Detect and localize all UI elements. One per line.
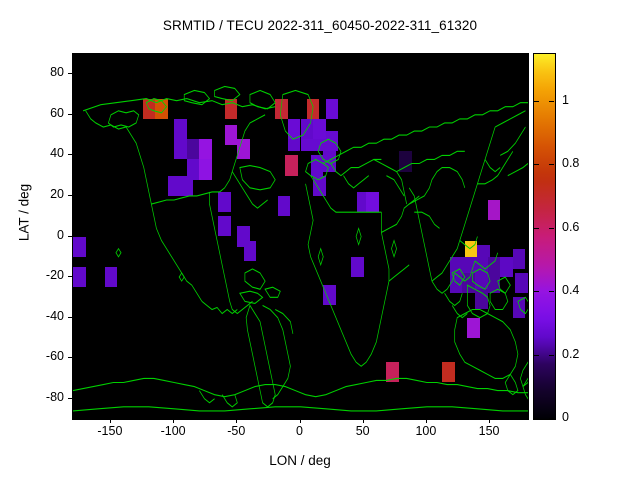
x-tick-label: 0 bbox=[270, 424, 330, 438]
colorbar-tick-mark bbox=[549, 355, 554, 356]
x-tick-label: -50 bbox=[206, 424, 266, 438]
x-tick-mark bbox=[363, 419, 364, 423]
y-tick-mark bbox=[68, 317, 72, 318]
y-tick-mark bbox=[68, 114, 72, 115]
y-tick-label: 40 bbox=[0, 146, 64, 160]
colorbar-tick-label: 0.2 bbox=[562, 347, 612, 361]
y-tick-label: 80 bbox=[0, 65, 64, 79]
colorbar-tick-mark bbox=[534, 355, 539, 356]
figure-canvas: SRMTID / TECU 2022-311_60450-2022-311_61… bbox=[0, 0, 640, 480]
x-tick-label: 50 bbox=[333, 424, 393, 438]
colorbar bbox=[533, 53, 556, 420]
x-tick-mark bbox=[489, 419, 490, 423]
y-tick-label: -80 bbox=[0, 390, 64, 404]
colorbar-tick-mark bbox=[549, 101, 554, 102]
y-tick-label: -20 bbox=[0, 268, 64, 282]
x-tick-mark bbox=[173, 419, 174, 423]
colorbar-gradient bbox=[534, 54, 555, 419]
y-tick-mark bbox=[68, 195, 72, 196]
colorbar-tick-label: 1 bbox=[562, 93, 612, 107]
x-tick-mark bbox=[236, 419, 237, 423]
coastline-layer bbox=[73, 54, 528, 419]
x-tick-label: 150 bbox=[459, 424, 519, 438]
x-axis-label: LON / deg bbox=[0, 453, 600, 468]
colorbar-tick-mark bbox=[549, 418, 554, 419]
y-tick-mark bbox=[68, 398, 72, 399]
y-tick-label: 0 bbox=[0, 228, 64, 242]
y-tick-label: 60 bbox=[0, 106, 64, 120]
colorbar-tick-mark bbox=[549, 164, 554, 165]
map-plot-area[interactable] bbox=[72, 53, 529, 420]
colorbar-tick-mark bbox=[534, 418, 539, 419]
chart-title: SRMTID / TECU 2022-311_60450-2022-311_61… bbox=[0, 18, 640, 33]
x-tick-label: -150 bbox=[80, 424, 140, 438]
colorbar-tick-label: 0.8 bbox=[562, 156, 612, 170]
y-tick-mark bbox=[68, 357, 72, 358]
x-tick-label: -100 bbox=[143, 424, 203, 438]
y-tick-label: -60 bbox=[0, 349, 64, 363]
colorbar-tick-mark bbox=[549, 291, 554, 292]
y-tick-mark bbox=[68, 73, 72, 74]
x-tick-mark bbox=[300, 419, 301, 423]
colorbar-tick-label: 0 bbox=[562, 410, 612, 424]
colorbar-tick-label: 0.6 bbox=[562, 220, 612, 234]
y-tick-mark bbox=[68, 236, 72, 237]
y-axis-label: LAT / deg bbox=[17, 163, 32, 263]
x-tick-label: 100 bbox=[396, 424, 456, 438]
x-tick-mark bbox=[110, 419, 111, 423]
colorbar-tick-mark bbox=[534, 291, 539, 292]
y-tick-label: -40 bbox=[0, 309, 64, 323]
x-tick-mark bbox=[426, 419, 427, 423]
y-tick-mark bbox=[68, 154, 72, 155]
colorbar-tick-mark bbox=[534, 228, 539, 229]
y-tick-label: 20 bbox=[0, 187, 64, 201]
colorbar-tick-mark bbox=[534, 164, 539, 165]
colorbar-tick-mark bbox=[549, 228, 554, 229]
colorbar-tick-label: 0.4 bbox=[562, 283, 612, 297]
colorbar-tick-mark bbox=[534, 101, 539, 102]
y-tick-mark bbox=[68, 276, 72, 277]
